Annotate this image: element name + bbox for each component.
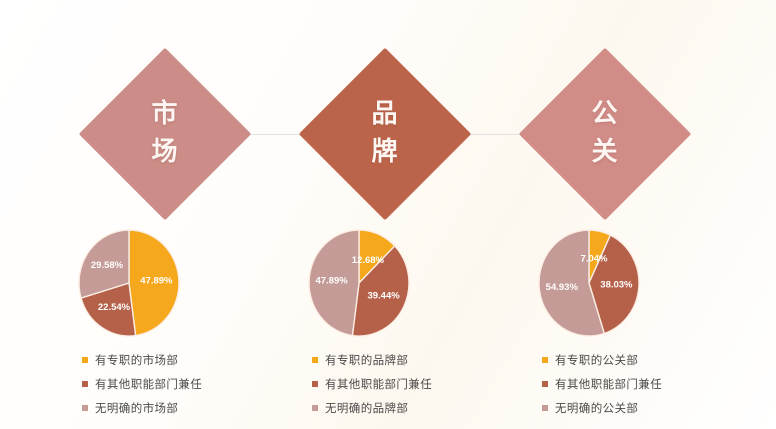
diamond-label-line: 关: [519, 133, 691, 171]
legend-label: 有专职的品牌部: [325, 353, 408, 367]
pie-legend-pr: 有专职的公关部有其他职能部门兼任无明确的公关部: [542, 348, 737, 420]
infographic-root: 市场品牌公关 47.89%22.54%29.58%有专职的市场部有其他职能部门兼…: [0, 0, 776, 429]
legend-swatch-icon: [542, 405, 548, 411]
legend-swatch-icon: [82, 405, 88, 411]
legend-item[interactable]: 有专职的市场部: [82, 348, 277, 372]
legend-item[interactable]: 有其他职能部门兼任: [312, 372, 507, 396]
diamond-label-brand: 品牌: [299, 95, 471, 171]
pie-slice-value-label: 12.68%: [352, 255, 385, 266]
legend-label: 有专职的公关部: [555, 353, 638, 367]
pie-slice-value-label: 54.93%: [546, 282, 579, 293]
legend-label: 有其他职能部门兼任: [95, 377, 202, 391]
legend-swatch-icon: [312, 381, 318, 387]
diamond-label-line: 场: [79, 133, 251, 171]
pie-legend-brand: 有专职的品牌部有其他职能部门兼任无明确的品牌部: [312, 348, 507, 420]
pie-slice-value-label: 47.89%: [140, 276, 173, 287]
diamond-brand[interactable]: 品牌: [299, 48, 471, 220]
pie-charts-row: 47.89%22.54%29.58%有专职的市场部有其他职能部门兼任无明确的市场…: [0, 222, 776, 429]
diamond-market[interactable]: 市场: [79, 48, 251, 220]
pie-section-market: 47.89%22.54%29.58%有专职的市场部有其他职能部门兼任无明确的市场…: [62, 222, 277, 429]
diamond-label-market: 市场: [79, 95, 251, 171]
diamond-label-line: 市: [79, 95, 251, 133]
pie-section-pr: 7.04%38.03%54.93%有专职的公关部有其他职能部门兼任无明确的公关部: [522, 222, 737, 429]
legend-label: 有专职的市场部: [95, 353, 178, 367]
pie-slice-value-label: 7.04%: [581, 254, 608, 265]
pie-slice-value-label: 29.58%: [91, 260, 124, 271]
legend-label: 无明确的公关部: [555, 401, 638, 415]
pie-legend-market: 有专职的市场部有其他职能部门兼任无明确的市场部: [82, 348, 277, 420]
pie-slice-value-label: 39.44%: [367, 291, 400, 302]
legend-label: 有其他职能部门兼任: [325, 377, 432, 391]
diamond-pr[interactable]: 公关: [519, 48, 691, 220]
legend-item[interactable]: 无明确的市场部: [82, 396, 277, 420]
diamond-row: 市场品牌公关: [0, 0, 776, 215]
legend-item[interactable]: 无明确的品牌部: [312, 396, 507, 420]
legend-label: 无明确的市场部: [95, 401, 178, 415]
legend-swatch-icon: [312, 357, 318, 363]
legend-swatch-icon: [312, 405, 318, 411]
legend-item[interactable]: 有其他职能部门兼任: [542, 372, 737, 396]
pie-svg-market: 47.89%22.54%29.58%: [74, 226, 184, 341]
legend-swatch-icon: [542, 381, 548, 387]
diamond-label-line: 品: [299, 95, 471, 133]
legend-item[interactable]: 有专职的品牌部: [312, 348, 507, 372]
diamond-label-line: 牌: [299, 133, 471, 171]
legend-label: 无明确的品牌部: [325, 401, 408, 415]
pie-svg-pr: 7.04%38.03%54.93%: [534, 226, 644, 341]
pie-chart-market[interactable]: 47.89%22.54%29.58%: [74, 226, 184, 341]
legend-label: 有其他职能部门兼任: [555, 377, 662, 391]
pie-slice-value-label: 47.89%: [315, 276, 348, 287]
diamond-label-pr: 公关: [519, 95, 691, 171]
pie-chart-brand[interactable]: 12.68%39.44%47.89%: [304, 226, 414, 341]
pie-section-brand: 12.68%39.44%47.89%有专职的品牌部有其他职能部门兼任无明确的品牌…: [292, 222, 507, 429]
legend-item[interactable]: 无明确的公关部: [542, 396, 737, 420]
legend-swatch-icon: [82, 357, 88, 363]
pie-slice-value-label: 22.54%: [98, 302, 131, 313]
diamond-label-line: 公: [519, 95, 691, 133]
legend-swatch-icon: [542, 357, 548, 363]
pie-svg-brand: 12.68%39.44%47.89%: [304, 226, 414, 341]
pie-chart-pr[interactable]: 7.04%38.03%54.93%: [534, 226, 644, 341]
pie-slice-value-label: 38.03%: [600, 279, 633, 290]
legend-item[interactable]: 有专职的公关部: [542, 348, 737, 372]
legend-item[interactable]: 有其他职能部门兼任: [82, 372, 277, 396]
legend-swatch-icon: [82, 381, 88, 387]
